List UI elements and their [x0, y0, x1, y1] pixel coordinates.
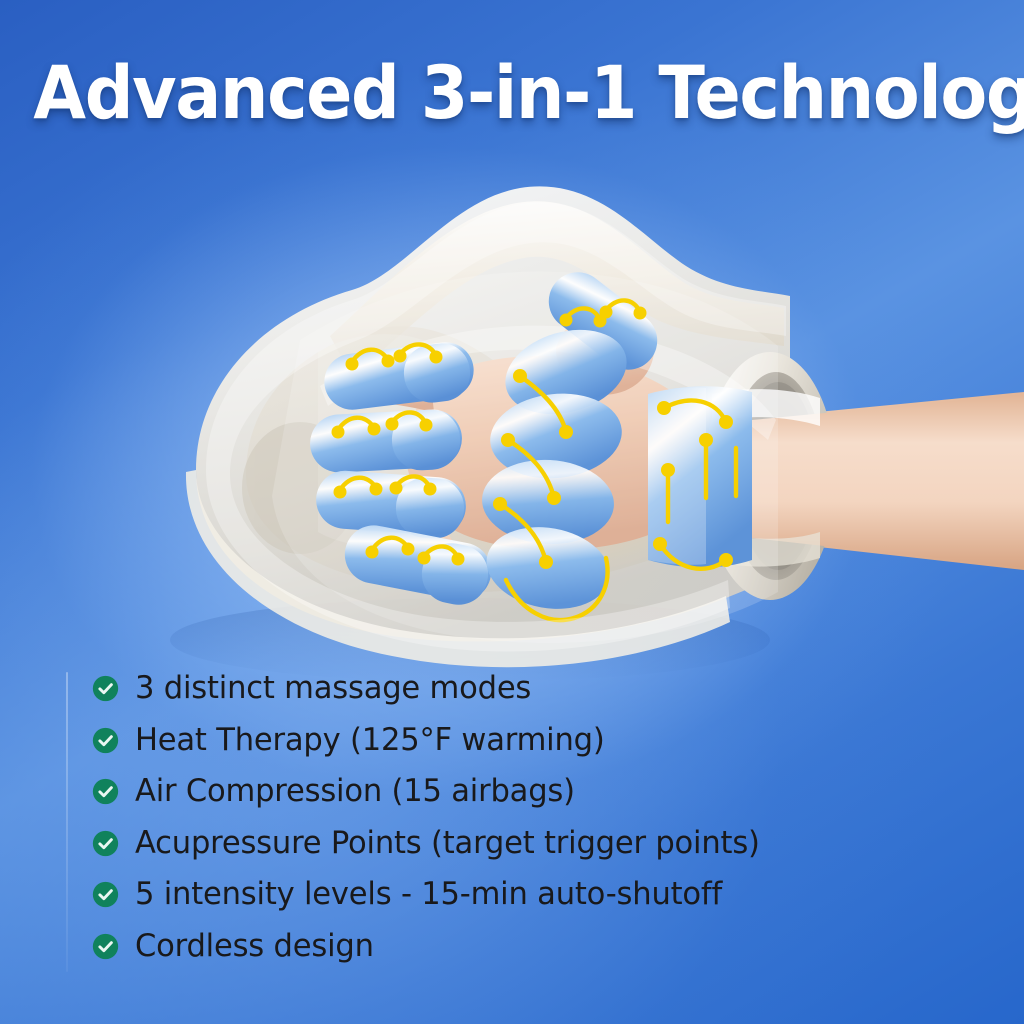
feature-item: Air Compression (15 airbags) — [92, 766, 972, 818]
airbag-finger-2 — [309, 408, 464, 474]
feature-label: Acupressure Points (target trigger point… — [135, 828, 760, 860]
feature-list-rail — [66, 672, 68, 972]
page-title: Advanced 3-in-1 Technology — [33, 56, 990, 133]
feature-item: Heat Therapy (125°F warming) — [92, 715, 972, 767]
check-circle-icon — [92, 675, 119, 702]
feature-list: 3 distinct massage modes Heat Therapy (1… — [92, 663, 972, 972]
feature-label: Air Compression (15 airbags) — [135, 776, 575, 808]
product-feature-banner: Advanced 3-in-1 Technology — [0, 0, 1024, 1024]
check-circle-icon — [92, 727, 119, 754]
check-circle-icon — [92, 830, 119, 857]
feature-item: Acupressure Points (target trigger point… — [92, 818, 972, 870]
feature-item: 3 distinct massage modes — [92, 663, 972, 715]
check-circle-icon — [92, 778, 119, 805]
check-circle-icon — [92, 881, 119, 908]
feature-label: Cordless design — [135, 931, 374, 963]
feature-label: Heat Therapy (125°F warming) — [135, 725, 605, 757]
feature-item: Cordless design — [92, 921, 972, 973]
hand-massager-illustration — [0, 140, 1024, 685]
feature-label: 3 distinct massage modes — [135, 673, 531, 705]
check-circle-icon — [92, 933, 119, 960]
feature-label: 5 intensity levels - 15-min auto-shutoff — [135, 879, 722, 911]
feature-item: 5 intensity levels - 15-min auto-shutoff — [92, 869, 972, 921]
